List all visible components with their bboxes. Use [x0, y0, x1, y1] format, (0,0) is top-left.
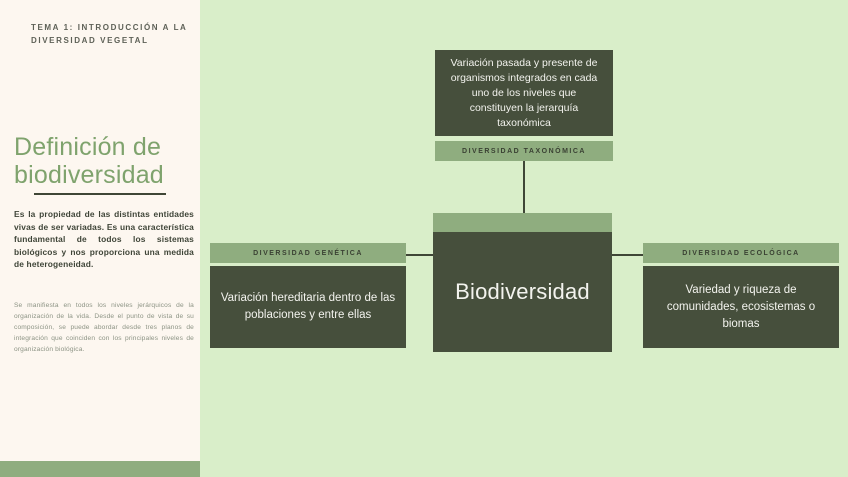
left-panel: TEMA 1: INTRODUCCIÓN A LA DIVERSIDAD VEG…: [0, 0, 200, 477]
slide-canvas: TEMA 1: INTRODUCCIÓN A LA DIVERSIDAD VEG…: [0, 0, 848, 477]
node-description-ecologica: Variedad y riqueza de comunidades, ecosi…: [643, 266, 839, 348]
node-description-taxonomica: Variación pasada y presente de organismo…: [435, 50, 613, 136]
page-title: Definición de biodiversidad: [14, 133, 196, 189]
node-label-genetica[interactable]: DIVERSIDAD GENÉTICA: [210, 243, 406, 263]
connector-genetica: [406, 254, 435, 256]
title-divider: [34, 193, 166, 195]
topic-eyebrow: TEMA 1: INTRODUCCIÓN A LA DIVERSIDAD VEG…: [31, 22, 191, 47]
secondary-paragraph: Se manifiesta en todos los niveles jerár…: [14, 300, 194, 355]
panel-accent-bar: [0, 461, 200, 477]
center-node-cap: [433, 213, 612, 232]
connector-ecologica: [612, 254, 643, 256]
center-node-biodiversidad[interactable]: Biodiversidad: [433, 232, 612, 352]
node-label-ecologica[interactable]: DIVERSIDAD ECOLÓGICA: [643, 243, 839, 263]
node-description-genetica: Variación hereditaria dentro de las pobl…: [210, 266, 406, 348]
definition-paragraph: Es la propiedad de las distintas entidad…: [14, 208, 194, 271]
node-label-taxonomica[interactable]: DIVERSIDAD TAXONÓMICA: [435, 141, 613, 161]
connector-taxonomica: [523, 161, 525, 213]
